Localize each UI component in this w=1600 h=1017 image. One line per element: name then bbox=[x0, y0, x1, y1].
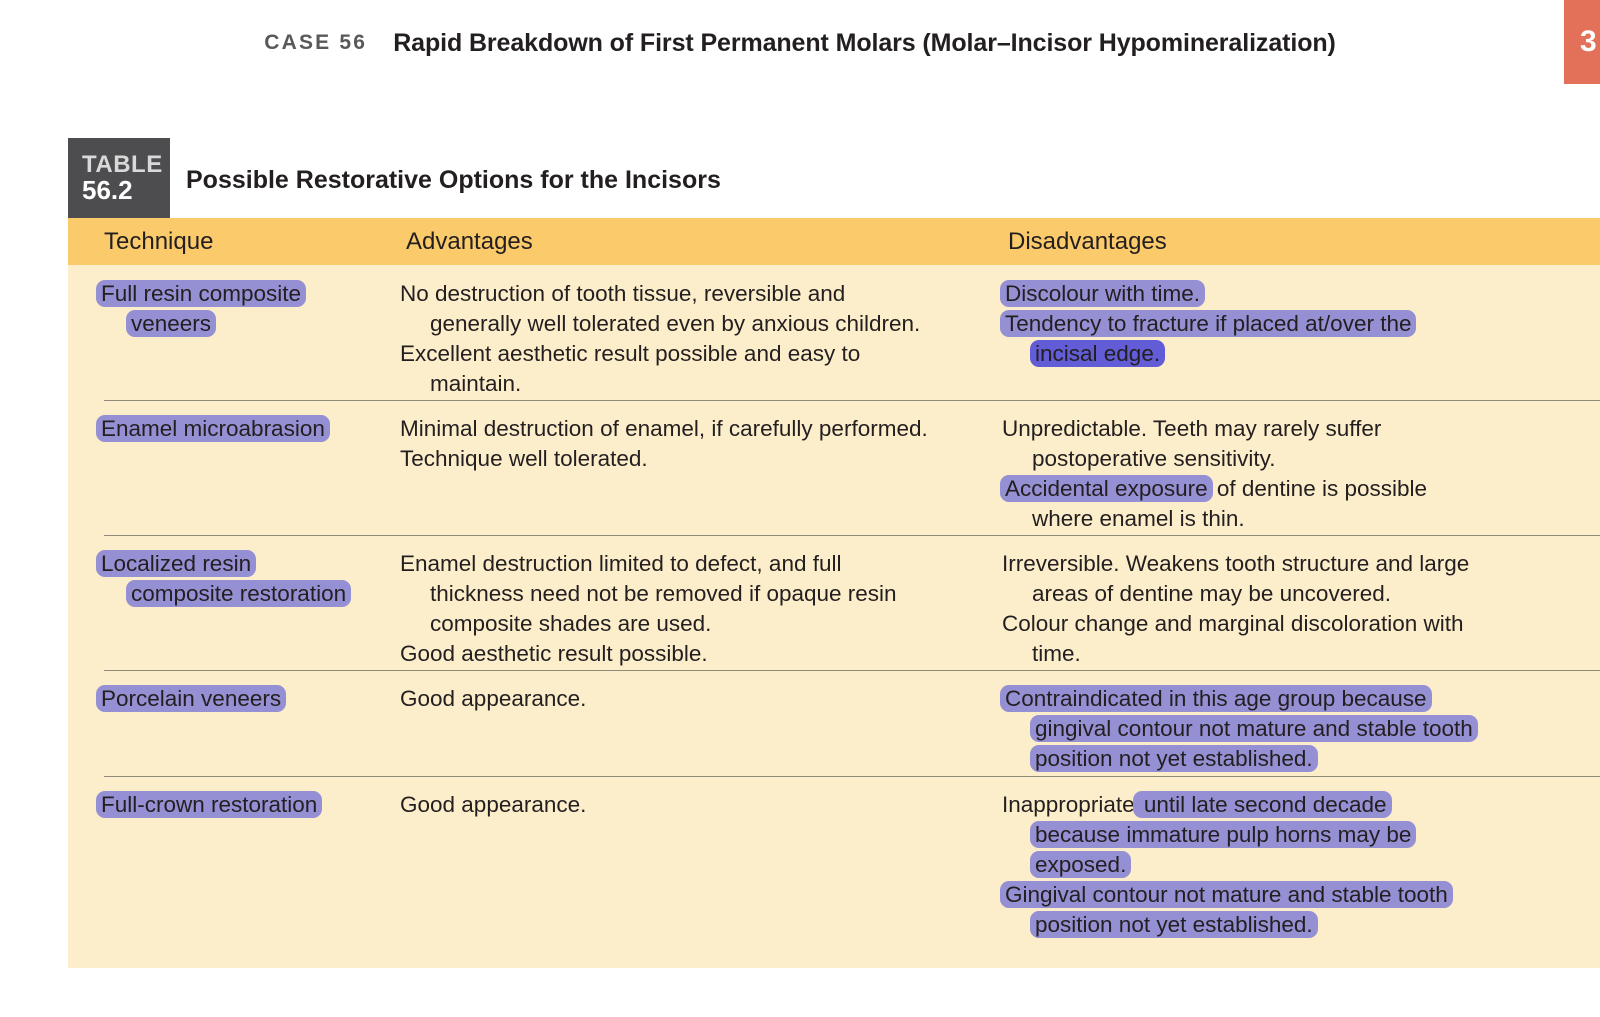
highlight-mark: veneers bbox=[126, 310, 216, 337]
table-badge-number: 56.2 bbox=[82, 177, 170, 204]
text-run: Good appearance. bbox=[400, 686, 586, 711]
table-row: Enamel microabrasionMinimal destruction … bbox=[68, 400, 1600, 535]
text-line: incisal edge. bbox=[1002, 339, 1542, 369]
cell-advantages: Minimal destruction of enamel, if carefu… bbox=[400, 414, 990, 474]
text-line: Good appearance. bbox=[400, 684, 990, 714]
text-run: No destruction of tooth tissue, reversib… bbox=[400, 281, 845, 306]
text-run: Minimal destruction of enamel, if carefu… bbox=[400, 416, 928, 441]
page-number-tab: 3 bbox=[1564, 0, 1600, 84]
highlight-mark: gingival contour not mature and stable t… bbox=[1030, 715, 1478, 742]
text-line: Inappropriate until late second decade bbox=[1002, 790, 1542, 820]
column-header-advantages: Advantages bbox=[406, 228, 533, 256]
cell-disadvantages: Irreversible. Weakens tooth structure an… bbox=[1002, 549, 1542, 669]
table-header-row: Technique Advantages Disadvantages bbox=[68, 218, 1600, 265]
cell-advantages: Good appearance. bbox=[400, 684, 990, 714]
highlight-mark: position not yet established. bbox=[1030, 745, 1318, 772]
restorative-options-table: Technique Advantages Disadvantages Full … bbox=[68, 218, 1600, 968]
cell-advantages: Good appearance. bbox=[400, 790, 990, 820]
text-line: No destruction of tooth tissue, reversib… bbox=[400, 279, 990, 309]
page-number: 3 bbox=[1564, 25, 1597, 59]
text-line: Good appearance. bbox=[400, 790, 990, 820]
text-line: composite restoration bbox=[98, 579, 388, 609]
cell-technique: Enamel microabrasion bbox=[98, 414, 388, 444]
text-run: Inappropriate bbox=[1002, 792, 1135, 817]
cell-technique: Full resin compositeveneers bbox=[98, 279, 388, 339]
text-line: position not yet established. bbox=[1002, 910, 1542, 940]
text-line: Unpredictable. Teeth may rarely suffer bbox=[1002, 414, 1542, 444]
highlight-mark: Tendency to fracture if placed at/over t… bbox=[1000, 310, 1416, 337]
highlight-mark: Discolour with time. bbox=[1000, 280, 1205, 307]
text-run: areas of dentine may be uncovered. bbox=[1032, 581, 1391, 606]
page-title: Rapid Breakdown of First Permanent Molar… bbox=[393, 29, 1336, 58]
text-line: Colour change and marginal discoloration… bbox=[1002, 609, 1542, 639]
highlight-mark: Full resin composite bbox=[96, 280, 306, 307]
text-line: Tendency to fracture if placed at/over t… bbox=[1002, 309, 1542, 339]
cell-disadvantages: Inappropriate until late second decadebe… bbox=[1002, 790, 1542, 940]
highlight-mark: position not yet established. bbox=[1030, 911, 1318, 938]
text-line: veneers bbox=[98, 309, 388, 339]
cell-technique: Full-crown restoration bbox=[98, 790, 388, 820]
text-line: composite shades are used. bbox=[400, 609, 990, 639]
text-line: Technique well tolerated. bbox=[400, 444, 990, 474]
text-line: Minimal destruction of enamel, if carefu… bbox=[400, 414, 990, 444]
highlight-mark: until late second decade bbox=[1133, 791, 1392, 818]
text-run: Excellent aesthetic result possible and … bbox=[400, 341, 860, 366]
text-line: maintain. bbox=[400, 369, 990, 399]
cell-disadvantages: Unpredictable. Teeth may rarely sufferpo… bbox=[1002, 414, 1542, 534]
text-line: Discolour with time. bbox=[1002, 279, 1542, 309]
text-line: Irreversible. Weakens tooth structure an… bbox=[1002, 549, 1542, 579]
column-header-disadvantages: Disadvantages bbox=[1008, 228, 1167, 256]
text-line: because immature pulp horns may be bbox=[1002, 820, 1542, 850]
text-line: Gingival contour not mature and stable t… bbox=[1002, 880, 1542, 910]
text-line: where enamel is thin. bbox=[1002, 504, 1542, 534]
text-run: thickness need not be removed if opaque … bbox=[430, 581, 897, 606]
text-line: Enamel destruction limited to defect, an… bbox=[400, 549, 990, 579]
text-line: time. bbox=[1002, 639, 1542, 669]
text-line: Good aesthetic result possible. bbox=[400, 639, 990, 669]
text-line: gingival contour not mature and stable t… bbox=[1002, 714, 1542, 744]
text-run: time. bbox=[1032, 641, 1081, 666]
text-run: Enamel destruction limited to defect, an… bbox=[400, 551, 842, 576]
highlight-mark: Contraindicated in this age group becaus… bbox=[1000, 685, 1432, 712]
highlight-mark: Gingival contour not mature and stable t… bbox=[1000, 881, 1453, 908]
cell-advantages: Enamel destruction limited to defect, an… bbox=[400, 549, 990, 669]
text-run: composite shades are used. bbox=[430, 611, 711, 636]
text-run: Technique well tolerated. bbox=[400, 446, 648, 471]
table-row: Full resin compositeveneersNo destructio… bbox=[68, 265, 1600, 400]
running-header: CASE 56 Rapid Breakdown of First Permane… bbox=[0, 0, 1600, 86]
text-run: Colour change and marginal discoloration… bbox=[1002, 611, 1464, 636]
text-line: Porcelain veneers bbox=[98, 684, 388, 714]
cell-advantages: No destruction of tooth tissue, reversib… bbox=[400, 279, 990, 399]
cell-disadvantages: Contraindicated in this age group becaus… bbox=[1002, 684, 1542, 774]
text-line: Full resin composite bbox=[98, 279, 388, 309]
table-body: Full resin compositeveneersNo destructio… bbox=[68, 265, 1600, 968]
text-line: generally well tolerated even by anxious… bbox=[400, 309, 990, 339]
row-divider bbox=[104, 776, 1600, 777]
text-run: Good appearance. bbox=[400, 792, 586, 817]
table-badge-word: TABLE bbox=[82, 152, 170, 177]
text-line: areas of dentine may be uncovered. bbox=[1002, 579, 1542, 609]
row-divider bbox=[104, 400, 1600, 401]
highlight-mark: because immature pulp horns may be bbox=[1030, 821, 1416, 848]
table-title: Possible Restorative Options for the Inc… bbox=[186, 166, 721, 195]
text-line: Localized resin bbox=[98, 549, 388, 579]
table-number-badge: TABLE 56.2 bbox=[68, 138, 170, 218]
highlight-mark: Accidental exposure bbox=[1000, 475, 1213, 502]
text-line: thickness need not be removed if opaque … bbox=[400, 579, 990, 609]
text-line: exposed. bbox=[1002, 850, 1542, 880]
table-row: Full-crown restorationGood appearance.In… bbox=[68, 776, 1600, 968]
table-row: Localized resincomposite restorationEnam… bbox=[68, 535, 1600, 670]
text-line: position not yet established. bbox=[1002, 744, 1542, 774]
text-run: Unpredictable. Teeth may rarely suffer bbox=[1002, 416, 1381, 441]
text-line: Full-crown restoration bbox=[98, 790, 388, 820]
table-caption: TABLE 56.2 Possible Restorative Options … bbox=[68, 138, 721, 218]
cell-technique: Localized resincomposite restoration bbox=[98, 549, 388, 609]
highlight-mark: incisal edge. bbox=[1030, 340, 1165, 367]
text-run: where enamel is thin. bbox=[1032, 506, 1245, 531]
text-run: maintain. bbox=[430, 371, 521, 396]
text-line: Excellent aesthetic result possible and … bbox=[400, 339, 990, 369]
highlight-mark: Enamel microabrasion bbox=[96, 415, 330, 442]
cell-disadvantages: Discolour with time.Tendency to fracture… bbox=[1002, 279, 1542, 369]
text-run: Good aesthetic result possible. bbox=[400, 641, 708, 666]
text-run: Irreversible. Weakens tooth structure an… bbox=[1002, 551, 1469, 576]
text-line: postoperative sensitivity. bbox=[1002, 444, 1542, 474]
text-line: Accidental exposure of dentine is possib… bbox=[1002, 474, 1542, 504]
highlight-mark: composite restoration bbox=[126, 580, 351, 607]
highlight-mark: Localized resin bbox=[96, 550, 256, 577]
table-row: Porcelain veneersGood appearance.Contrai… bbox=[68, 670, 1600, 776]
cell-technique: Porcelain veneers bbox=[98, 684, 388, 714]
highlight-mark: Porcelain veneers bbox=[96, 685, 286, 712]
case-label: CASE 56 bbox=[264, 31, 367, 55]
row-divider bbox=[104, 670, 1600, 671]
text-line: Enamel microabrasion bbox=[98, 414, 388, 444]
text-run: generally well tolerated even by anxious… bbox=[430, 311, 920, 336]
highlight-mark: exposed. bbox=[1030, 851, 1131, 878]
text-line: Contraindicated in this age group becaus… bbox=[1002, 684, 1542, 714]
row-divider bbox=[104, 535, 1600, 536]
text-run: postoperative sensitivity. bbox=[1032, 446, 1275, 471]
highlight-mark: Full-crown restoration bbox=[96, 791, 322, 818]
text-run: of dentine is possible bbox=[1211, 476, 1427, 501]
column-header-technique: Technique bbox=[104, 228, 213, 256]
